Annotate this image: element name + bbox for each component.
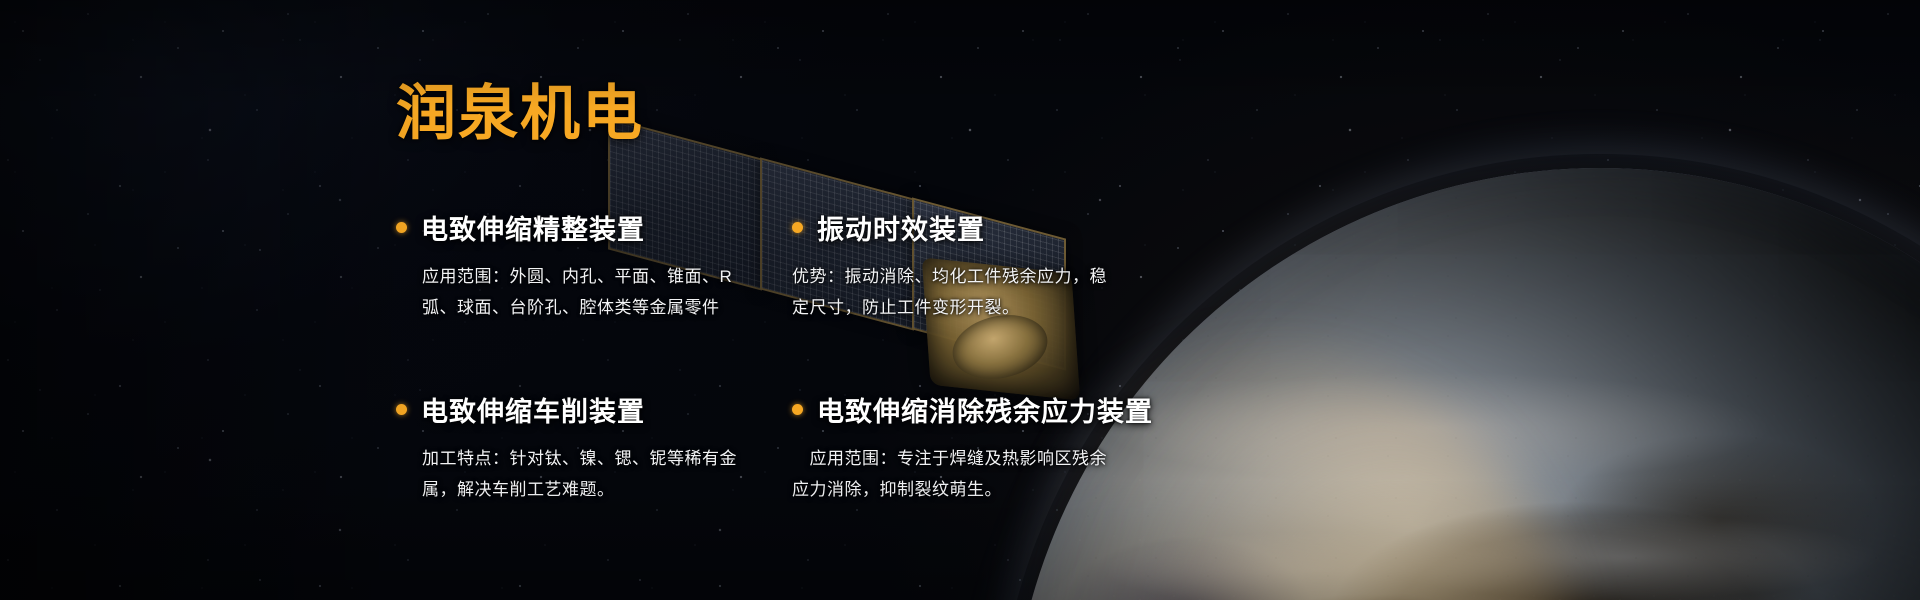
bullet-dot-icon bbox=[396, 404, 407, 415]
feature-row-top: 电致伸缩精整装置 应用范围：外圆、内孔、平面、锥面、R弧、球面、台阶孔、腔体类等… bbox=[396, 208, 1156, 324]
bullet-dot-icon bbox=[792, 404, 803, 415]
feature-title: 电致伸缩车削装置 bbox=[421, 390, 645, 429]
feature-heading: 电致伸缩精整装置 bbox=[396, 208, 776, 247]
feature-description: 优势：振动消除、均化工件残余应力，稳定尺寸，防止工件变形开裂。 bbox=[792, 261, 1122, 324]
feature-heading: 振动时效装置 bbox=[792, 208, 1156, 247]
feature-heading: 电致伸缩车削装置 bbox=[396, 390, 776, 429]
feature-list: 电致伸缩精整装置 应用范围：外圆、内孔、平面、锥面、R弧、球面、台阶孔、腔体类等… bbox=[396, 208, 1156, 506]
feature-heading: 电致伸缩消除残余应力装置 bbox=[792, 390, 1156, 429]
feature-item-electrostrictive-finishing[interactable]: 电致伸缩精整装置 应用范围：外圆、内孔、平面、锥面、R弧、球面、台阶孔、腔体类等… bbox=[396, 208, 776, 324]
feature-item-vibration-aging[interactable]: 振动时效装置 优势：振动消除、均化工件残余应力，稳定尺寸，防止工件变形开裂。 bbox=[776, 208, 1156, 324]
feature-description: 加工特点：针对钛、镍、锶、铌等稀有金属，解决车削工艺难题。 bbox=[422, 443, 752, 506]
feature-item-electrostrictive-turning[interactable]: 电致伸缩车削装置 加工特点：针对钛、镍、锶、铌等稀有金属，解决车削工艺难题。 bbox=[396, 390, 776, 506]
feature-item-residual-stress-relief[interactable]: 电致伸缩消除残余应力装置 应用范围：专注于焊缝及热影响区残余应力消除，抑制裂纹萌… bbox=[776, 390, 1156, 506]
bullet-dot-icon bbox=[792, 222, 803, 233]
feature-row-bottom: 电致伸缩车削装置 加工特点：针对钛、镍、锶、铌等稀有金属，解决车削工艺难题。 电… bbox=[396, 390, 1156, 506]
feature-title: 电致伸缩精整装置 bbox=[421, 208, 645, 247]
banner-content: 润泉机电 电致伸缩精整装置 应用范围：外圆、内孔、平面、锥面、R弧、球面、台阶孔… bbox=[0, 0, 1920, 600]
feature-title: 振动时效装置 bbox=[817, 208, 985, 247]
feature-title: 电致伸缩消除残余应力装置 bbox=[817, 390, 1153, 429]
feature-description: 应用范围：专注于焊缝及热影响区残余应力消除，抑制裂纹萌生。 bbox=[792, 443, 1122, 506]
brand-title: 润泉机电 bbox=[396, 82, 644, 145]
bullet-dot-icon bbox=[396, 222, 407, 233]
hero-banner: 润泉机电 电致伸缩精整装置 应用范围：外圆、内孔、平面、锥面、R弧、球面、台阶孔… bbox=[0, 0, 1920, 600]
feature-description: 应用范围：外圆、内孔、平面、锥面、R弧、球面、台阶孔、腔体类等金属零件 bbox=[422, 261, 752, 324]
